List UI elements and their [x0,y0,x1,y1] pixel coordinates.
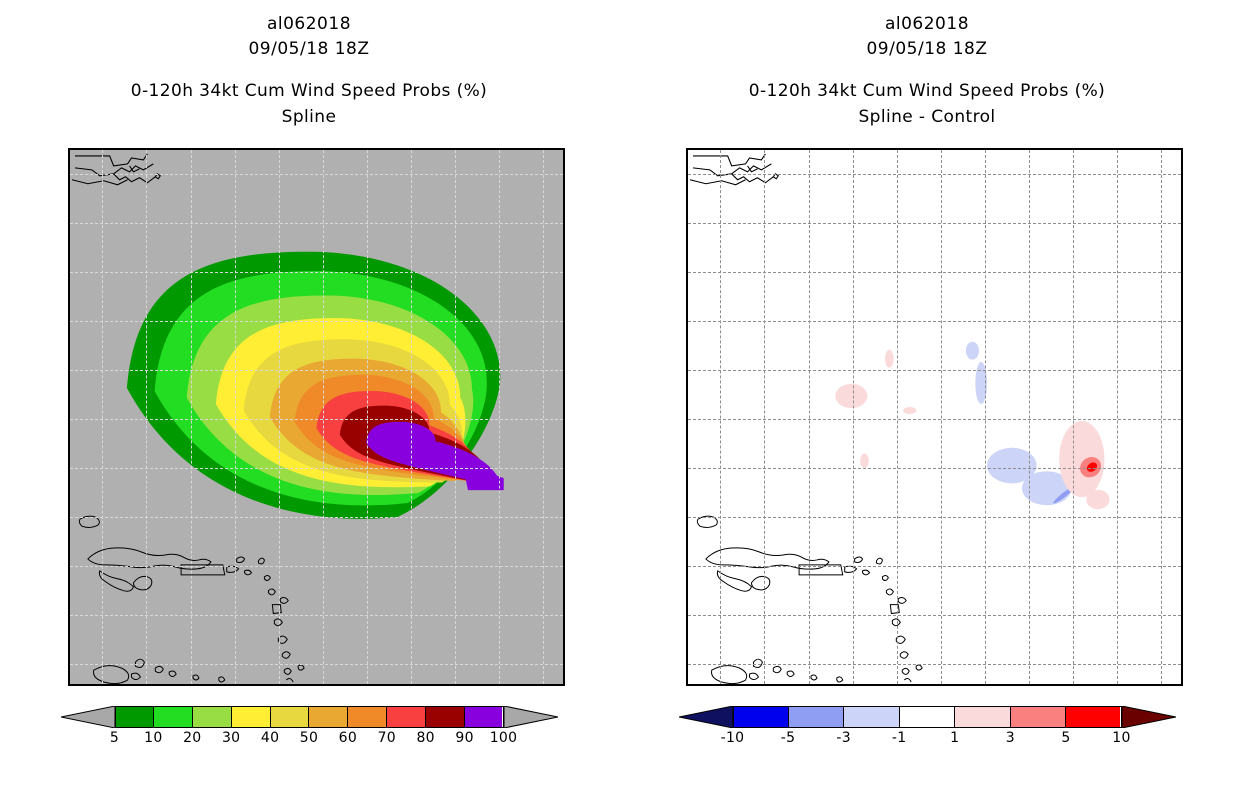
gridline-vertical [191,150,192,684]
difference-anomaly-1 [903,407,916,414]
panel-title: 0-120h 34kt Cum Wind Speed Probs (%) [618,79,1236,105]
gridline-horizontal [70,419,563,420]
right-colorbar: -10-5-3-113510 [618,706,1236,748]
x-axis-tick: 60W [264,684,294,686]
colorbar-tick: -3 [836,730,851,746]
colorbar-band-7 [387,707,426,727]
colorbar-tick: 50 [300,730,318,746]
gridline-horizontal [688,272,1181,273]
gridline-vertical [499,150,500,684]
right-panel-titles: al062018 09/05/18 18Z 0-120h 34kt Cum Wi… [618,0,1236,130]
valid-datetime: 09/05/18 18Z [618,37,1236,62]
colorbar-band-0 [734,707,789,727]
colorbar-band-3 [232,707,271,727]
colorbar-tick-labels: -10-5-3-113510 [679,728,1176,748]
gridline-vertical [1029,150,1030,684]
colorbar-tick: 10 [1112,730,1130,746]
gridline-vertical [897,150,898,684]
colorbar-band-8 [426,707,465,727]
colorbar-band-1 [789,707,844,727]
colorbar-band-6 [348,707,387,727]
x-axis-tick: 42W [528,684,558,686]
colorbar-band-3 [900,707,955,727]
x-axis-tick: 57W [926,684,956,686]
colorbar-tick: 40 [261,730,279,746]
colorbar-tick: 5 [110,730,119,746]
colorbar-tick: 100 [490,730,518,746]
colorbar-band-4 [271,707,310,727]
colorbar-band-6 [1066,707,1120,727]
x-axis-tick: 48W [1058,684,1088,686]
gridline-vertical [279,150,280,684]
colorbar-tick: -10 [721,730,745,746]
colorbar-band-0 [116,707,155,727]
colorbar-band-4 [955,707,1010,727]
colorbar-band-2 [193,707,232,727]
colorbar-tick: -5 [781,730,796,746]
gridline-vertical [146,150,147,684]
x-axis-tick: 57W [308,684,338,686]
colorbar-cap-high [1122,706,1176,728]
colorbar-tick: 90 [455,730,473,746]
colorbar-tick: 3 [1006,730,1015,746]
gridline-horizontal [688,566,1181,567]
panel-spline: al062018 09/05/18 18Z 0-120h 34kt Cum Wi… [0,0,618,800]
colorbar-tick: 80 [416,730,434,746]
storm-id: al062018 [0,12,618,37]
colorbar-tick: 20 [183,730,201,746]
gridline-vertical [1073,150,1074,684]
x-axis-tick: 69W [131,684,161,686]
gridline-horizontal [70,566,563,567]
x-axis-tick: 48W [440,684,470,686]
wind-speed-probability-figure: al062018 09/05/18 18Z 0-120h 34kt Cum Wi… [0,0,1236,800]
difference-anomaly-1 [835,384,867,408]
gridline-horizontal [688,664,1181,665]
difference-anomaly--1 [966,342,979,360]
gridline-horizontal [688,419,1181,420]
colorbar-band-5 [309,707,348,727]
x-axis-tick: 60W [882,684,912,686]
colorbar-band-2 [844,707,899,727]
x-axis-tick: 51W [396,684,426,686]
x-axis-tick: 51W [1014,684,1044,686]
gridline-vertical [455,150,456,684]
valid-datetime: 09/05/18 18Z [0,37,618,62]
x-axis-tick: 72W [87,684,117,686]
gridline-horizontal [688,321,1181,322]
gridline-horizontal [688,174,1181,175]
gridline-horizontal [70,223,563,224]
colorbar-tick: -1 [892,730,907,746]
gridline-horizontal [688,370,1181,371]
gridline-horizontal [70,468,563,469]
colorbar-band-1 [154,707,193,727]
probability-contours [70,150,563,684]
gridline-vertical [323,150,324,684]
gridline-horizontal [688,615,1181,616]
colorbar-cap-high [504,706,558,728]
colorbar-tick: 1 [950,730,959,746]
map-plot-spline: 42N39N36N33N30N27N24N21N18N15N12N72W69W6… [68,148,565,686]
gridline-vertical [985,150,986,684]
colorbar-bands [115,706,504,728]
gridline-vertical [1161,150,1162,684]
gridline-horizontal [70,615,563,616]
x-axis-tick: 72W [705,684,735,686]
difference-anomaly-1 [860,453,869,468]
gridline-horizontal [70,321,563,322]
gridline-horizontal [70,664,563,665]
left-panel-titles: al062018 09/05/18 18Z 0-120h 34kt Cum Wi… [0,0,618,130]
x-axis-tick: 42W [1146,684,1176,686]
gridline-vertical [1117,150,1118,684]
x-axis-tick: 45W [484,684,514,686]
gridline-horizontal [688,468,1181,469]
gridline-vertical [411,150,412,684]
gridline-vertical [235,150,236,684]
gridline-vertical [764,150,765,684]
gridline-horizontal [688,223,1181,224]
gridline-horizontal [70,174,563,175]
colorbar-tick: 30 [222,730,240,746]
gridline-vertical [367,150,368,684]
colorbar-tick: 70 [378,730,396,746]
x-axis-tick: 54W [352,684,382,686]
colorbar-bands [733,706,1122,728]
x-axis-tick: 45W [1102,684,1132,686]
panel-subtitle: Spline [0,105,618,131]
x-axis-tick: 63W [838,684,868,686]
colorbar-cap-low [679,706,733,728]
gridline-horizontal [70,517,563,518]
gridline-vertical [809,150,810,684]
gridline-horizontal [70,272,563,273]
panel-subtitle: Spline - Control [618,105,1236,131]
colorbar-tick: 5 [1061,730,1070,746]
gridline-vertical [102,150,103,684]
gridline-horizontal [70,370,563,371]
left-colorbar: 5102030405060708090100 [0,706,618,748]
colorbar-tick: 10 [144,730,162,746]
difference-anomalies [688,150,1181,684]
gridline-vertical [941,150,942,684]
colorbar-band-5 [1011,707,1066,727]
x-axis-tick: 54W [970,684,1000,686]
panel-title: 0-120h 34kt Cum Wind Speed Probs (%) [0,79,618,105]
panel-spline-minus-control: al062018 09/05/18 18Z 0-120h 34kt Cum Wi… [618,0,1236,800]
x-axis-tick: 69W [749,684,779,686]
gridline-vertical [543,150,544,684]
difference-anomaly-1 [885,350,894,368]
storm-id: al062018 [618,12,1236,37]
gridline-vertical [853,150,854,684]
x-axis-tick: 63W [220,684,250,686]
gridline-horizontal [688,517,1181,518]
colorbar-cap-low [61,706,115,728]
colorbar-tick: 60 [339,730,357,746]
colorbar-tick-labels: 5102030405060708090100 [61,728,558,748]
x-axis-tick: 66W [175,684,205,686]
x-axis-tick: 66W [793,684,823,686]
gridline-vertical [720,150,721,684]
colorbar-band-9 [465,707,503,727]
difference-anomaly-1 [1086,490,1109,509]
map-plot-difference: 42N39N36N33N30N27N24N21N18N15N12N72W69W6… [686,148,1183,686]
